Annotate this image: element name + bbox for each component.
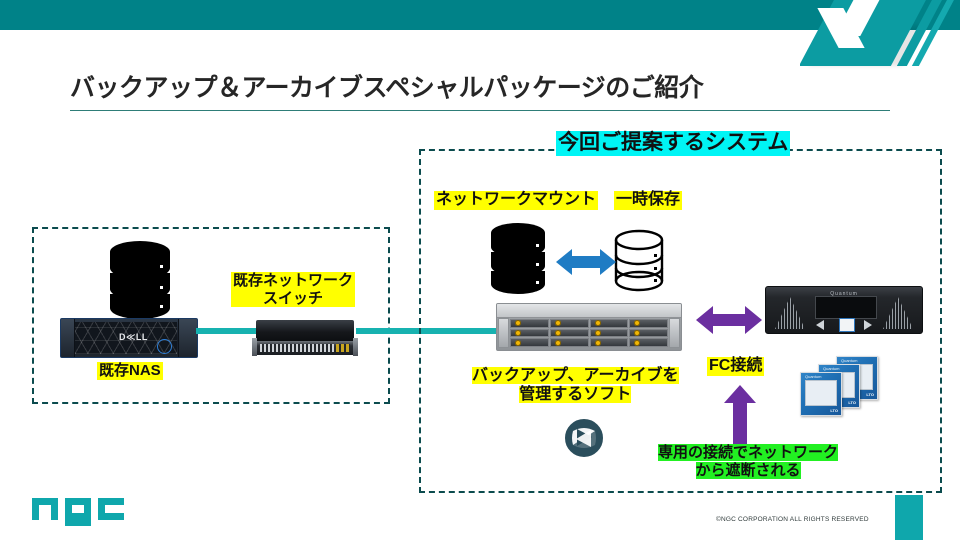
switch-left-ear <box>252 338 257 356</box>
database-cylinder-filled-icon <box>487 222 549 294</box>
label-network-mount: ネットワークマウント <box>434 191 598 210</box>
label-backup-software-line1: バックアップ、アーカイブを <box>472 367 679 384</box>
server-drive-bays <box>510 319 668 347</box>
nas-status-ring <box>157 339 172 354</box>
drive-bay <box>550 329 589 338</box>
label-existing-nas: 既存NAS <box>97 362 163 380</box>
label-network-isolation-line2: から遮断される <box>696 462 801 479</box>
tape-cartridge-brand: Quantum <box>823 366 839 371</box>
tape-library-select-button[interactable] <box>839 318 855 332</box>
drive-bay <box>629 329 668 338</box>
existing-environment-box <box>32 227 390 404</box>
page-title: バックアップ＆アーカイブスペシャルパッケージのご紹介 <box>70 68 703 104</box>
tape-cartridge-brand: Quantum <box>805 374 821 379</box>
drive-bay <box>550 319 589 328</box>
ngc-logo <box>32 492 130 526</box>
switch-rj45-ports <box>260 344 334 352</box>
label-existing-switch: 既存ネットワークスイッチ <box>231 272 355 307</box>
tape-cartridge-brand: Quantum <box>841 358 857 363</box>
drive-bay <box>510 319 549 328</box>
double-arrow-horizontal-purple <box>696 303 762 337</box>
label-network-isolation: 専用の接続でネットワークから遮断される <box>656 444 840 479</box>
double-arrow-horizontal-blue <box>556 245 616 279</box>
tape-cartridge-format: LTO <box>848 400 856 405</box>
tape-cartridge-format: LTO <box>830 408 838 413</box>
server-left-ear <box>498 318 509 348</box>
tape-library-next-button[interactable] <box>864 320 872 330</box>
switch-front-panel <box>252 341 358 355</box>
drive-bay <box>590 338 629 347</box>
server-top-lid <box>497 304 681 318</box>
nas-right-ear <box>178 319 197 357</box>
label-existing-switch-line1: 既存ネットワーク <box>233 272 353 289</box>
slide-canvas: バックアップ＆アーカイブスペシャルパッケージのご紹介 <box>0 0 960 540</box>
tape-library: Quantum <box>765 286 923 334</box>
switch-uplink-ports <box>336 344 350 352</box>
database-cylinder-outline-icon <box>611 229 667 293</box>
switch-chassis <box>256 320 354 342</box>
drive-bay <box>510 338 549 347</box>
drive-bay <box>510 329 549 338</box>
drive-bay <box>550 338 589 347</box>
label-backup-software-line2: 管理するソフト <box>519 386 631 403</box>
backup-software-logo-icon <box>565 419 603 457</box>
nas-left-ear <box>61 319 75 357</box>
tape-library-prev-button[interactable] <box>816 320 824 330</box>
header-decoration <box>800 0 960 80</box>
footer-accent-tab <box>895 495 923 540</box>
tape-cartridge: Quantum LTO <box>800 372 842 416</box>
proposed-system-heading: 今回ご提案するシステム <box>556 131 790 156</box>
tape-cartridge-label <box>805 380 837 406</box>
label-fc-connection: FC接続 <box>707 357 764 376</box>
title-underline <box>70 110 890 111</box>
drive-bay <box>629 338 668 347</box>
tape-library-vent-right <box>883 297 913 329</box>
network-link-nas-to-switch <box>196 328 258 334</box>
existing-network-switch <box>252 318 358 358</box>
existing-nas-server: D≪LL <box>60 318 198 358</box>
label-existing-switch-line2: スイッチ <box>263 290 323 307</box>
drive-bay <box>590 319 629 328</box>
tape-cartridge-format: LTO <box>866 392 874 397</box>
copyright-text: ©NGC CORPORATION ALL RIGHTS RESERVED <box>716 516 869 523</box>
tape-library-vent-left <box>775 297 805 329</box>
label-temporary-storage: 一時保存 <box>614 191 682 210</box>
label-network-isolation-line1: 専用の接続でネットワーク <box>658 444 838 461</box>
switch-right-ear <box>353 338 358 356</box>
dell-logo: D≪LL <box>119 332 148 343</box>
drive-bay <box>590 329 629 338</box>
label-backup-software: バックアップ、アーカイブを管理するソフト <box>470 367 681 405</box>
database-cylinder-icon <box>105 240 175 318</box>
backup-storage-server <box>496 303 682 351</box>
arrow-up-purple <box>723 385 757 447</box>
drive-bay <box>629 319 668 328</box>
server-right-ear <box>669 318 680 348</box>
tape-library-display <box>815 296 877 319</box>
